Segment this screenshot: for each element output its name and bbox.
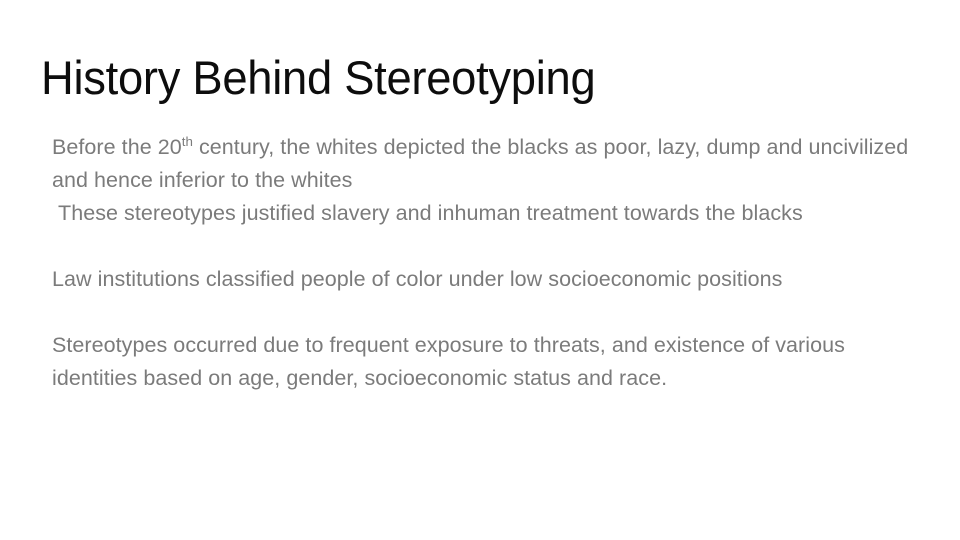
ordinal-superscript: th xyxy=(182,134,193,149)
body-paragraph-3: Law institutions classified people of co… xyxy=(52,263,918,296)
slide-canvas: History Behind Stereotyping Before the 2… xyxy=(0,0,960,540)
slide-body-text: Before the 20th century, the whites depi… xyxy=(52,131,918,395)
body-paragraph-2: These stereotypes justified slavery and … xyxy=(52,197,918,230)
body-paragraph-1-text-before-superscript: Before the 20 xyxy=(52,135,182,159)
body-paragraph-1: Before the 20th century, the whites depi… xyxy=(52,131,918,197)
body-paragraph-4: Stereotypes occurred due to frequent exp… xyxy=(52,329,918,395)
page-title: History Behind Stereotyping xyxy=(41,50,890,106)
